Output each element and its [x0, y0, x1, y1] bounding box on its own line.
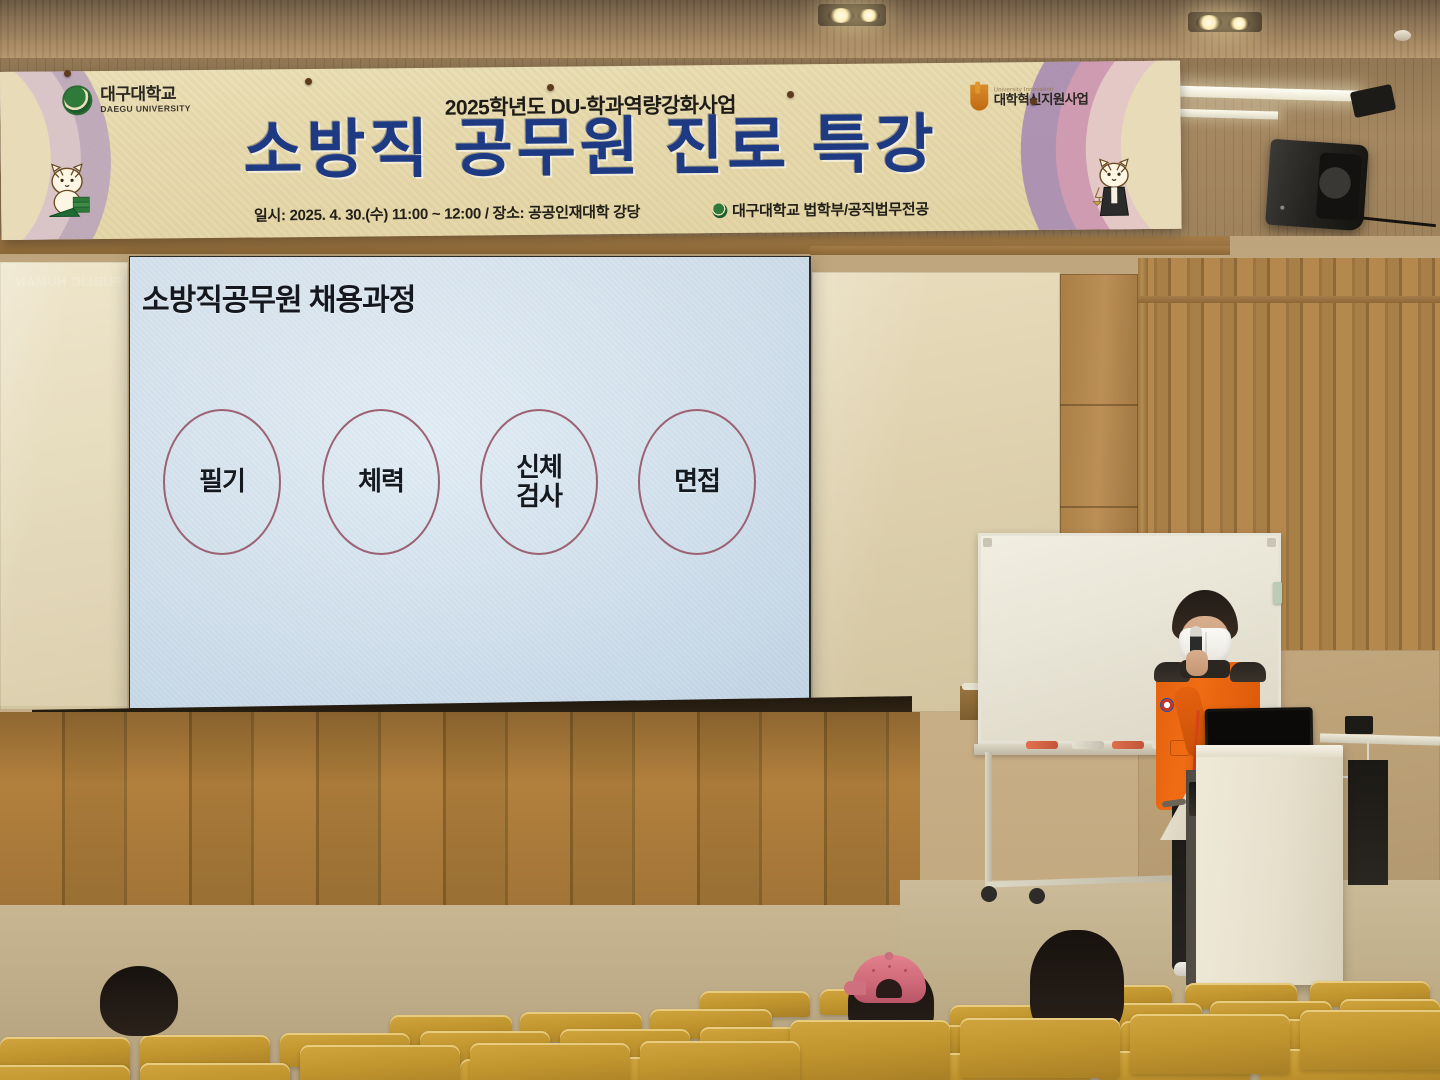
podium-equipment-box	[1345, 716, 1373, 734]
podium-top-surface	[1196, 745, 1343, 757]
host-seal-icon	[712, 203, 727, 218]
ceiling-light-4	[1228, 17, 1250, 30]
tiger-mascot-judge-icon	[1087, 157, 1142, 220]
process-step-1: 필기	[163, 409, 281, 555]
wall-trim-right	[810, 246, 1230, 255]
banner-bolt-4	[787, 91, 794, 98]
door-panel-line-1	[1060, 404, 1138, 406]
slat-trim	[1138, 296, 1440, 303]
banner-host-org: 대구대학교 법학부/공직법무전공	[712, 198, 929, 221]
whiteboard-leg-left	[985, 752, 992, 892]
ceiling-light-1	[828, 8, 854, 23]
cap-button	[885, 952, 894, 960]
presenter-hand	[1186, 650, 1208, 676]
uniform-patch-icon	[1160, 698, 1174, 712]
seat[interactable]	[640, 1041, 800, 1080]
whiteboard-corner-tr	[1267, 538, 1276, 547]
speaker-grille	[1316, 152, 1363, 221]
banner-bolt-2	[305, 78, 312, 85]
dark-cabinet	[1348, 760, 1388, 885]
slide-process-diagram: 필기 체력 신체 검사 면접	[130, 409, 809, 559]
whiteboard-magnet-icon	[1273, 582, 1282, 604]
process-step-4-label: 면접	[674, 467, 720, 496]
auditorium-photo: PUBLIC HUMAN 대구대학교 DAEGU UNIVERSITY	[0, 0, 1440, 1080]
presenter-shoulder-right	[1230, 662, 1266, 682]
seat[interactable]	[140, 1063, 290, 1080]
host-org-label: 대구대학교 법학부/공직법무전공	[732, 198, 929, 221]
marker-red[interactable]	[1026, 741, 1058, 749]
projector-ghost-text: PUBLIC HUMAN	[2, 274, 122, 300]
stage-wainscot	[0, 712, 920, 917]
marker-white[interactable]	[1072, 741, 1104, 749]
banner-datetime-venue: 일시: 2025. 4. 30.(수) 11:00 ~ 12:00 / 장소: …	[254, 201, 640, 226]
wainscot-shading	[0, 712, 920, 917]
whiteboard-caster-mid	[1029, 888, 1045, 904]
cap-eyelet-3	[904, 969, 907, 972]
banner-title: 소방직 공무원 진로 특강	[0, 109, 1181, 188]
seat[interactable]	[470, 1043, 630, 1080]
banner-bolt-5	[1030, 98, 1037, 105]
projection-screen: 소방직공무원 채용과정 필기 체력 신체 검사 면접	[130, 257, 809, 708]
cap-eyelet-2	[888, 965, 891, 968]
attendee-head-left	[100, 966, 178, 1036]
seat[interactable]	[960, 1018, 1120, 1078]
smoke-detector-icon	[1394, 30, 1411, 41]
banner-bolt-1	[64, 70, 71, 77]
ceiling-light-3	[1196, 15, 1222, 30]
process-step-4: 면접	[638, 409, 756, 555]
process-step-1-label: 필기	[199, 467, 245, 496]
podium	[1196, 745, 1343, 985]
seat[interactable]	[300, 1045, 460, 1080]
cap-back-opening	[876, 979, 902, 998]
whiteboard-caster-left	[981, 886, 997, 902]
whiteboard-corner-tl	[983, 538, 992, 547]
projector-light-spill	[0, 262, 128, 706]
event-banner: 대구대학교 DAEGU UNIVERSITY University Innova…	[0, 61, 1182, 240]
slide-title: 소방직공무원 채용과정	[142, 275, 415, 319]
seat[interactable]	[1130, 1014, 1290, 1074]
door-panel-line-2	[1060, 506, 1138, 508]
tiger-mascot-books-icon	[43, 161, 98, 224]
pa-speaker-icon	[1265, 139, 1369, 232]
speaker-led	[1280, 206, 1284, 210]
seat[interactable]	[790, 1020, 950, 1080]
process-step-3-label: 신체 검사	[516, 453, 562, 511]
ceiling-light-2	[858, 9, 880, 22]
banner-bolt-3	[547, 84, 554, 91]
cap-brim	[844, 981, 866, 995]
cap-eyelet-1	[872, 969, 875, 972]
marker-orange[interactable]	[1112, 741, 1144, 749]
process-step-3: 신체 검사	[480, 409, 598, 555]
process-step-2: 체력	[322, 409, 440, 555]
seat[interactable]	[1300, 1010, 1440, 1070]
process-step-2-label: 체력	[358, 467, 404, 496]
seat[interactable]	[0, 1065, 130, 1080]
